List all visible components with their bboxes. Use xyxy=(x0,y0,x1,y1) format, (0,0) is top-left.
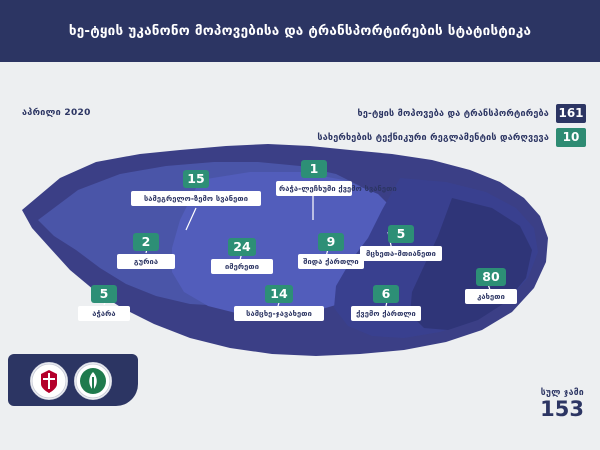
marker-value-mtskheta: 5 xyxy=(388,225,414,243)
map-marker-kakheti[interactable]: 80 კახეთი xyxy=(465,268,517,304)
marker-value-guria: 2 xyxy=(133,233,159,251)
state-coat-of-arms-icon xyxy=(30,362,68,400)
marker-label-mtskheta: მცხეთა-მთიანეთი xyxy=(360,246,442,261)
map-marker-racha[interactable]: 1 რაჭა-ლეჩხუმი ქვემო სვანეთი xyxy=(276,160,352,196)
marker-value-imereti: 24 xyxy=(228,238,256,256)
header-bar: ხე-ტყის უკანონო მოპოვებისა და ტრანსპორტი… xyxy=(0,0,600,62)
marker-label-samegrelo: სამეგრელო-ზემო სვანეთი xyxy=(131,191,261,206)
infographic-page: ხე-ტყის უკანონო მოპოვებისა და ტრანსპორტი… xyxy=(0,0,600,450)
map-marker-mtskheta[interactable]: 5 მცხეთა-მთიანეთი xyxy=(360,225,442,261)
marker-label-kakheti: კახეთი xyxy=(465,289,517,304)
marker-value-kakheti: 80 xyxy=(476,268,506,286)
georgia-map: 15 სამეგრელო-ზემო სვანეთი 1 რაჭა-ლეჩხუმი… xyxy=(0,120,600,370)
marker-value-shida-kartli: 9 xyxy=(318,233,344,251)
marker-value-samtskhe: 14 xyxy=(265,285,293,303)
marker-label-racha: რაჭა-ლეჩხუმი ქვემო სვანეთი xyxy=(276,181,352,196)
map-marker-adjara[interactable]: 5 აჭარა xyxy=(78,285,130,321)
map-marker-guria[interactable]: 2 გურია xyxy=(117,233,175,269)
marker-label-guria: გურია xyxy=(117,254,175,269)
map-marker-samegrelo[interactable]: 15 სამეგრელო-ზემო სვანეთი xyxy=(131,170,261,206)
marker-value-adjara: 5 xyxy=(91,285,117,303)
footer-logo-plate xyxy=(8,354,138,406)
marker-label-samtskhe: სამცხე-ჯავახეთი xyxy=(234,306,324,321)
marker-label-imereti: იმერეთი xyxy=(211,259,273,274)
legend-label-logging: ხე-ტყის მოპოვება და ტრანსპორტირება xyxy=(358,109,556,119)
page-title: ხე-ტყის უკანონო მოპოვებისა და ტრანსპორტი… xyxy=(0,0,600,62)
marker-value-kvemo-kartli: 6 xyxy=(373,285,399,303)
marker-value-racha: 1 xyxy=(301,160,327,178)
map-marker-imereti[interactable]: 24 იმერეთი xyxy=(211,238,273,274)
total-block: სულ ჯამი 153 xyxy=(540,388,584,420)
map-marker-samtskhe[interactable]: 14 სამცხე-ჯავახეთი xyxy=(234,285,324,321)
bottom-strip xyxy=(0,444,600,450)
map-marker-shida-kartli[interactable]: 9 შიდა ქართლი xyxy=(298,233,364,269)
map-marker-kvemo-kartli[interactable]: 6 ქვემო ქართლი xyxy=(351,285,421,321)
marker-label-shida-kartli: შიდა ქართლი xyxy=(298,254,364,269)
marker-label-adjara: აჭარა xyxy=(78,306,130,321)
total-value: 153 xyxy=(540,399,584,420)
date-label: აპრილი 2020 xyxy=(22,108,91,118)
marker-value-samegrelo: 15 xyxy=(183,170,209,188)
marker-label-kvemo-kartli: ქვემო ქართლი xyxy=(351,306,421,321)
agency-logo-icon xyxy=(74,362,112,400)
